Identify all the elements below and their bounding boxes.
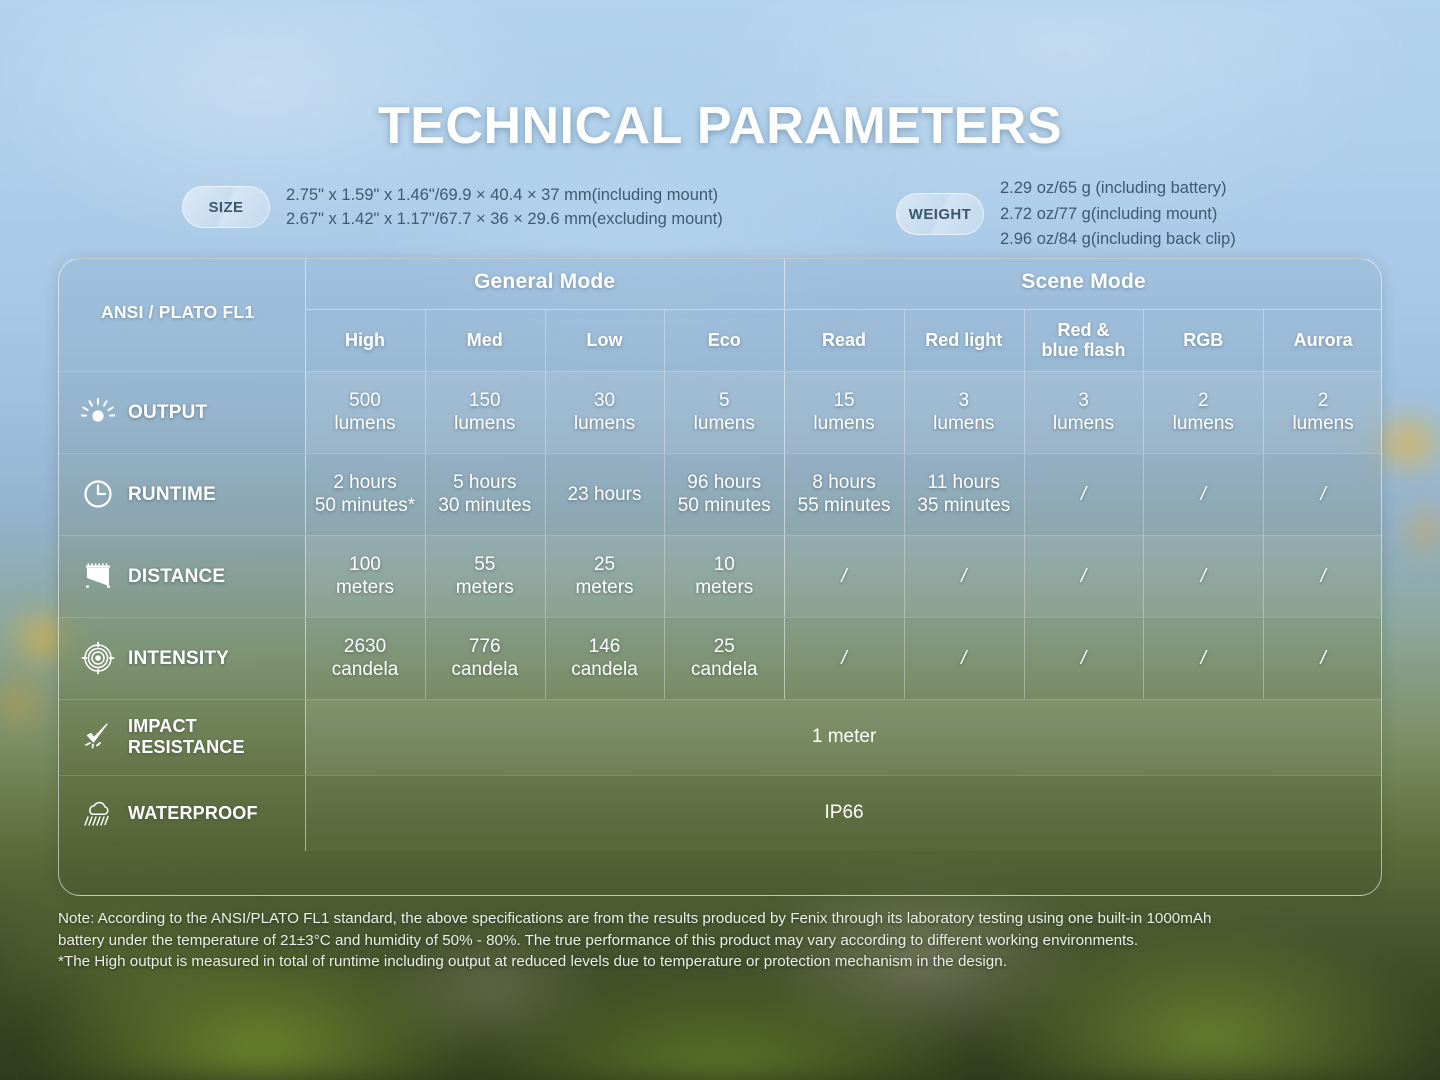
cell-runtime-low: 23 hours — [545, 453, 665, 535]
cell-output-rgb: 2lumens — [1143, 371, 1263, 453]
col-header-rgb: RGB — [1143, 309, 1263, 371]
cell-distance-med: 55meters — [425, 535, 545, 617]
size-line-1: 2.75" x 1.59" x 1.46"/69.9 × 40.4 × 37 m… — [286, 183, 723, 207]
weight-line-2: 2.72 oz/77 g(including mount) — [1000, 202, 1236, 228]
cell-distance-high: 100meters — [305, 535, 425, 617]
weight-line-1: 2.29 oz/65 g (including battery) — [1000, 176, 1236, 202]
cell-output-eco: 5lumens — [664, 371, 784, 453]
size-line-2: 2.67" x 1.42" x 1.17"/67.7 × 36 × 29.6 m… — [286, 207, 723, 231]
cell-runtime-rgb: / — [1143, 453, 1263, 535]
size-spec-group: SIZE 2.75" x 1.59" x 1.46"/69.9 × 40.4 ×… — [182, 183, 723, 231]
cell-intensity-low: 146candela — [545, 617, 665, 699]
table-row: OUTPUT 500lumens 150lumens 30lumens 5lum… — [59, 371, 1382, 453]
col-header-read: Read — [784, 309, 904, 371]
rain-cloud-icon — [81, 796, 115, 830]
specifications-panel: ANSI / PLATO FL1 General Mode Scene Mode… — [58, 258, 1382, 896]
cell-output-low: 30lumens — [545, 371, 665, 453]
cell-intensity-read: / — [784, 617, 904, 699]
col-header-red-light: Red light — [904, 309, 1024, 371]
cell-runtime-high: 2 hours50 minutes* — [305, 453, 425, 535]
footnote-line-3: *The High output is measured in total of… — [58, 951, 1398, 973]
cell-intensity-red-blue-flash: / — [1024, 617, 1144, 699]
specifications-table: ANSI / PLATO FL1 General Mode Scene Mode… — [59, 259, 1382, 851]
cell-distance-read: / — [784, 535, 904, 617]
table-row: INTENSITY 2630candela 776candela 146cand… — [59, 617, 1382, 699]
ansi-plato-label: ANSI / PLATO FL1 — [59, 259, 305, 371]
cell-intensity-aurora: / — [1263, 617, 1382, 699]
row-label-text: INTENSITY — [128, 648, 229, 669]
col-header-low: Low — [545, 309, 665, 371]
row-label-text: OUTPUT — [128, 402, 207, 423]
footnote-line-2: battery under the temperature of 21±3°C … — [58, 930, 1398, 952]
row-label-text: IMPACT RESISTANCE — [128, 716, 245, 758]
row-label-text: RUNTIME — [128, 484, 216, 505]
impact-drop-icon — [81, 720, 115, 754]
cell-runtime-aurora: / — [1263, 453, 1382, 535]
row-label-impact-resistance: IMPACT RESISTANCE — [59, 699, 305, 775]
cell-distance-red-blue-flash: / — [1024, 535, 1144, 617]
row-label-intensity: INTENSITY — [59, 617, 305, 699]
cell-runtime-eco: 96 hours50 minutes — [664, 453, 784, 535]
table-row: DISTANCE 100meters 55meters 25meters 10m… — [59, 535, 1382, 617]
cell-waterproof-value: IP66 — [305, 775, 1382, 851]
size-values: 2.75" x 1.59" x 1.46"/69.9 × 40.4 × 37 m… — [286, 183, 723, 231]
cell-intensity-red-light: / — [904, 617, 1024, 699]
cell-output-red-blue-flash: 3lumens — [1024, 371, 1144, 453]
cell-impact-resistance-value: 1 meter — [305, 699, 1382, 775]
cell-distance-eco: 10meters — [664, 535, 784, 617]
cell-intensity-high: 2630candela — [305, 617, 425, 699]
row-label-distance: DISTANCE — [59, 535, 305, 617]
sun-burst-icon — [81, 395, 115, 429]
cell-runtime-red-blue-flash: / — [1024, 453, 1144, 535]
table-row: WATERPROOF IP66 — [59, 775, 1382, 851]
cell-intensity-eco: 25candela — [664, 617, 784, 699]
beam-distance-icon — [81, 559, 115, 593]
cell-output-aurora: 2lumens — [1263, 371, 1382, 453]
col-header-aurora: Aurora — [1263, 309, 1382, 371]
group-header-general: General Mode — [305, 259, 784, 309]
weight-spec-group: WEIGHT 2.29 oz/65 g (including battery) … — [896, 176, 1236, 253]
target-intensity-icon — [81, 641, 115, 675]
size-badge: SIZE — [182, 186, 270, 228]
cell-runtime-read: 8 hours55 minutes — [784, 453, 904, 535]
col-header-med: Med — [425, 309, 545, 371]
spec-sheet-page: TECHNICAL PARAMETERS SIZE 2.75" x 1.59" … — [0, 0, 1440, 1080]
cell-output-read: 15lumens — [784, 371, 904, 453]
weight-badge: WEIGHT — [896, 193, 984, 235]
cell-distance-red-light: / — [904, 535, 1024, 617]
row-label-runtime: RUNTIME — [59, 453, 305, 535]
weight-line-3: 2.96 oz/84 g(including back clip) — [1000, 227, 1236, 253]
cell-runtime-red-light: 11 hours35 minutes — [904, 453, 1024, 535]
col-header-red-blue-flash: Red &blue flash — [1024, 309, 1144, 371]
table-group-header-row: ANSI / PLATO FL1 General Mode Scene Mode — [59, 259, 1382, 309]
cell-output-red-light: 3lumens — [904, 371, 1024, 453]
cell-distance-aurora: / — [1263, 535, 1382, 617]
clock-icon — [81, 477, 115, 511]
table-row: RUNTIME 2 hours50 minutes* 5 hours30 min… — [59, 453, 1382, 535]
row-label-text: WATERPROOF — [128, 803, 258, 824]
cell-distance-low: 25meters — [545, 535, 665, 617]
row-label-output: OUTPUT — [59, 371, 305, 453]
page-title: TECHNICAL PARAMETERS — [0, 96, 1440, 156]
cell-intensity-med: 776candela — [425, 617, 545, 699]
cell-runtime-med: 5 hours30 minutes — [425, 453, 545, 535]
col-header-high: High — [305, 309, 425, 371]
col-header-eco: Eco — [664, 309, 784, 371]
weight-values: 2.29 oz/65 g (including battery) 2.72 oz… — [1000, 176, 1236, 253]
table-row: IMPACT RESISTANCE 1 meter — [59, 699, 1382, 775]
footnote-line-1: Note: According to the ANSI/PLATO FL1 st… — [58, 908, 1398, 930]
cell-intensity-rgb: / — [1143, 617, 1263, 699]
cell-output-med: 150lumens — [425, 371, 545, 453]
row-label-text: DISTANCE — [128, 566, 225, 587]
group-header-scene: Scene Mode — [784, 259, 1382, 309]
cell-distance-rgb: / — [1143, 535, 1263, 617]
cell-output-high: 500lumens — [305, 371, 425, 453]
row-label-waterproof: WATERPROOF — [59, 775, 305, 851]
footnote: Note: According to the ANSI/PLATO FL1 st… — [58, 908, 1398, 973]
